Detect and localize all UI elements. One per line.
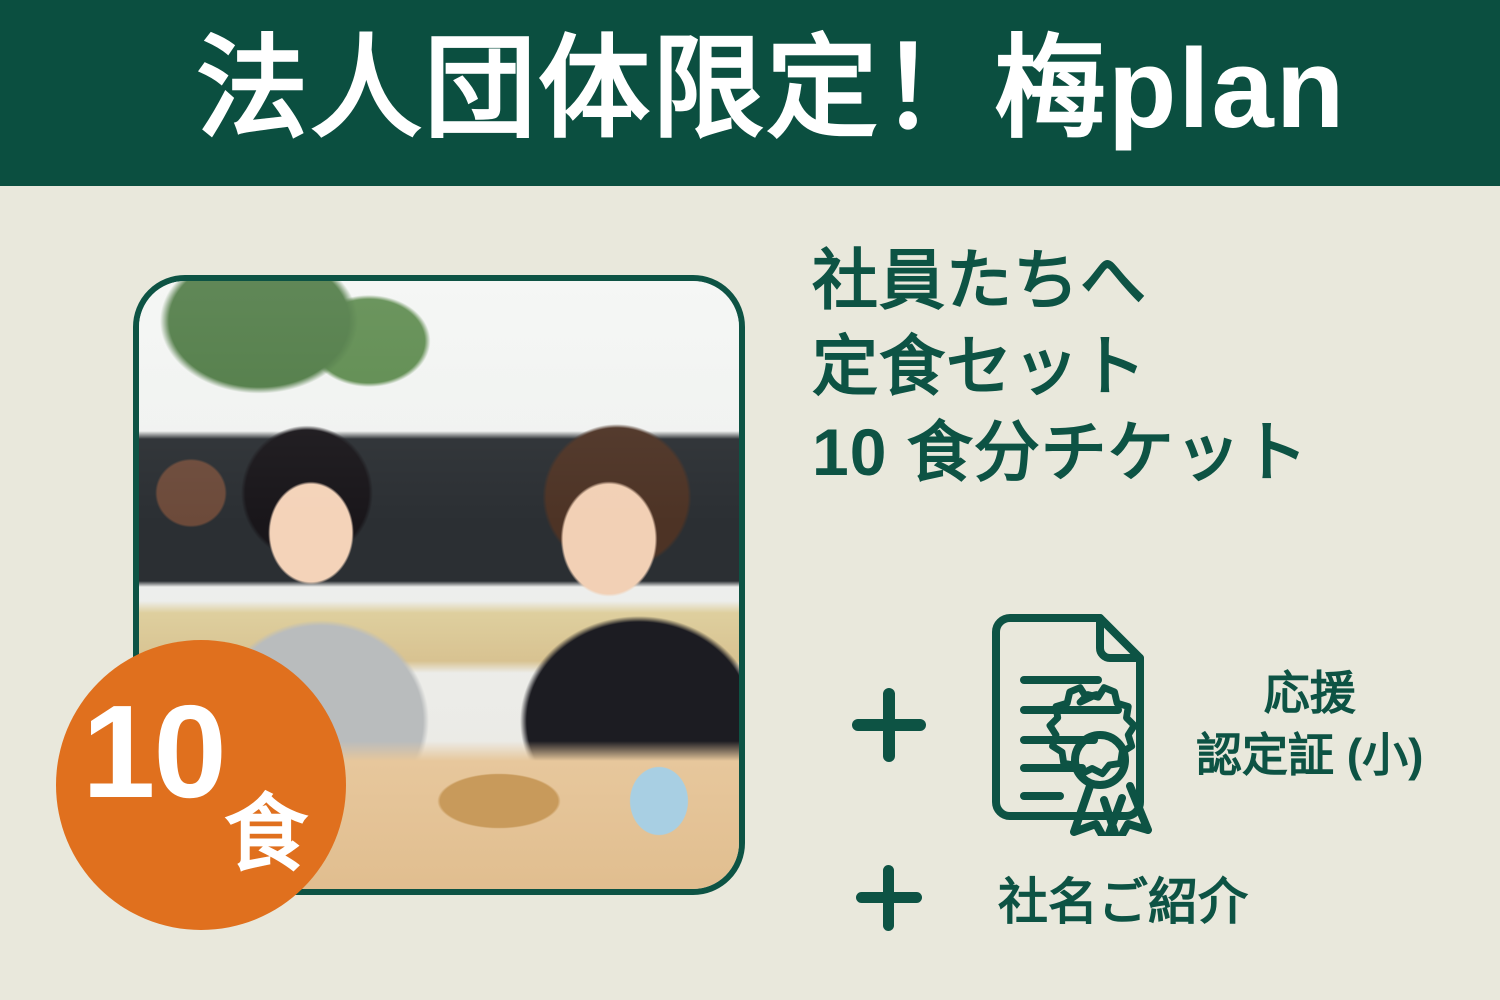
company-mention-label: 社名ご紹介 [998,862,1248,934]
company-mention-row: 社名ご紹介 [856,862,1248,934]
headline-line-3: 10 食分チケット [812,410,1472,496]
certificate-document-icon [982,610,1160,841]
headline-line-1: 社員たちへ [812,238,1472,324]
meal-count-badge: 10 食 [56,640,346,930]
certificate-label-line-1: 応援 [1264,667,1356,719]
plus-icon-company [856,865,922,931]
badge-number: 10 [82,686,225,818]
certificate-label: 応援 認定証 (小) [1196,663,1423,786]
headline-block: 社員たちへ 定食セット 10 食分チケット [812,238,1472,495]
certificate-row: 応援 認定証 (小) [852,600,1472,850]
certificate-label-line-2: 認定証 (小) [1196,729,1423,781]
header-banner: 法人団体限定！梅plan [0,0,1500,186]
banner-title: 法人団体限定！梅plan [0,33,1346,145]
headline-line-2: 定食セット [812,324,1472,410]
badge-unit-label: 食 [224,792,308,876]
plus-icon-certificate [852,688,926,762]
